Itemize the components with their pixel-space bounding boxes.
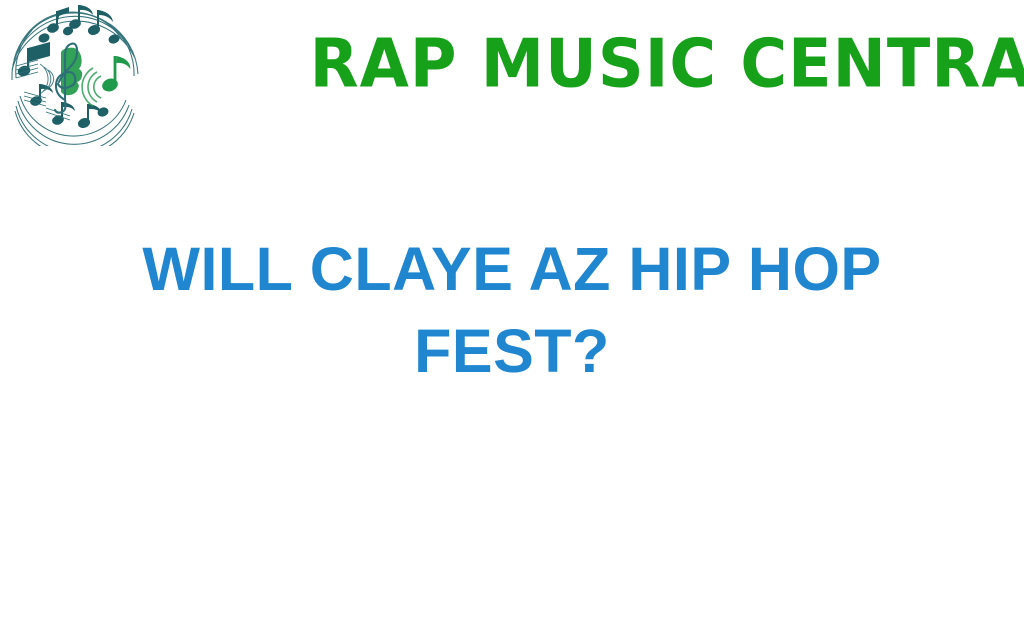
main-content: WILL CLAYE AZ HIP HOP FEST?	[0, 228, 1024, 392]
page-title: WILL CLAYE AZ HIP HOP FEST?	[0, 228, 1024, 392]
site-title: RAP MUSIC CENTRAL	[310, 21, 1024, 106]
page-header: RAP MUSIC CENTRAL	[0, 0, 1024, 150]
music-notes-circle-logo[interactable]	[2, 4, 144, 146]
